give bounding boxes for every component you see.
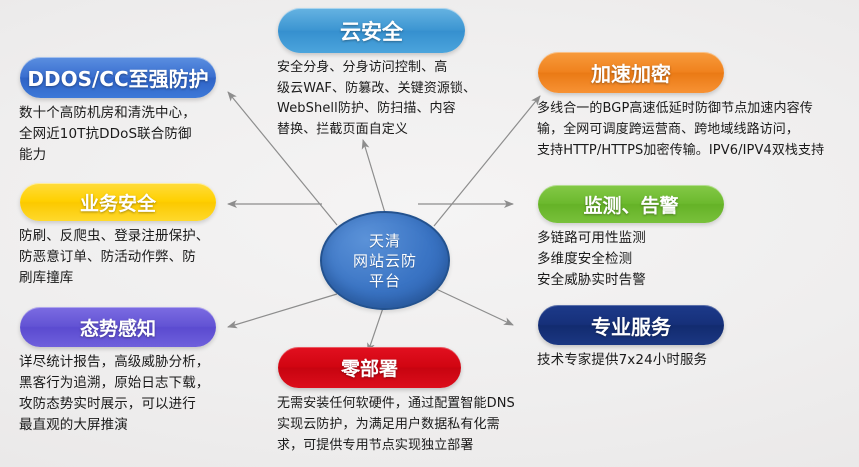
block-zero-deployment-title[interactable]: 零部署 xyxy=(278,347,461,388)
block-acceleration-description: 多线合一的BGP高速低延时防御节点加速内容传 输，全网可调度跨运营商、跨地域线路… xyxy=(537,98,853,161)
block-professional-services: 专业服务 技术专家提供7x24小时服务 xyxy=(537,305,837,371)
arrow-to-situ xyxy=(228,294,337,327)
block-ddos: DDOS/CC至强防护 数十个高防机房和清洗中心， 全网近10T抗DDoS联合防… xyxy=(19,57,234,166)
block-monitoring-title[interactable]: 监测、告警 xyxy=(538,185,724,223)
block-acceleration-title[interactable]: 加速加密 xyxy=(538,52,724,93)
center-node[interactable]: 天清 网站云防 平台 xyxy=(320,211,450,310)
block-cloud-security-title[interactable]: 云安全 xyxy=(278,8,465,53)
block-monitoring: 监测、告警 多链路可用性监测 多维度安全检测 安全威胁实时告警 xyxy=(537,185,837,291)
block-cloud-security-description: 安全分身、分身访问控制、高 级云WAF、防篡改、关键资源锁、 WebShell防… xyxy=(277,58,522,140)
block-situational-awareness: 态势感知 详尽统计报告，高级威胁分析， 黑客行为追溯，原始日志下载， 攻防态势实… xyxy=(19,307,239,436)
arrow-to-zero xyxy=(368,308,383,352)
block-situational-awareness-title[interactable]: 态势感知 xyxy=(20,307,216,347)
block-situational-awareness-description: 详尽统计报告，高级威胁分析， 黑客行为追溯，原始日志下载， 攻防态势实时展示，可… xyxy=(19,352,239,436)
block-zero-deployment: 零部署 无需安装任何软硬件，通过配置智能DNS 实现云防护，为满足用户数据私有化… xyxy=(277,347,527,456)
block-business-security-description: 防刷、反爬虫、登录注册保护、 防恶意订单、防活动作弊、防 刷库撞库 xyxy=(19,226,235,289)
block-zero-deployment-description: 无需安装任何软硬件，通过配置智能DNS 实现云防护，为满足用户数据私有化需 求，… xyxy=(277,393,527,456)
center-node-line-3: 平台 xyxy=(369,271,401,291)
arrow-to-prof xyxy=(434,288,513,325)
block-business-security-title[interactable]: 业务安全 xyxy=(20,183,216,221)
arrow-to-cloud xyxy=(363,140,385,213)
block-ddos-description: 数十个高防机房和清洗中心， 全网近10T抗DDoS联合防御 能力 xyxy=(19,103,234,166)
block-business-security: 业务安全 防刷、反爬虫、登录注册保护、 防恶意订单、防活动作弊、防 刷库撞库 xyxy=(19,183,235,289)
center-node-line-2: 网站云防 xyxy=(353,251,417,271)
block-cloud-security: 云安全 安全分身、分身访问控制、高 级云WAF、防篡改、关键资源锁、 WebSh… xyxy=(277,8,522,140)
block-professional-services-description: 技术专家提供7x24小时服务 xyxy=(537,350,837,371)
block-acceleration: 加速加密 多线合一的BGP高速低延时防御节点加速内容传 输，全网可调度跨运营商、… xyxy=(537,52,853,161)
center-node-line-1: 天清 xyxy=(369,231,401,251)
block-monitoring-description: 多链路可用性监测 多维度安全检测 安全威胁实时告警 xyxy=(537,228,837,291)
block-ddos-title[interactable]: DDOS/CC至强防护 xyxy=(20,57,216,98)
diagram-canvas: 天清 网站云防 平台 DDOS/CC至强防护 数十个高防机房和清洗中心， 全网近… xyxy=(0,0,859,467)
block-professional-services-title[interactable]: 专业服务 xyxy=(538,305,724,345)
